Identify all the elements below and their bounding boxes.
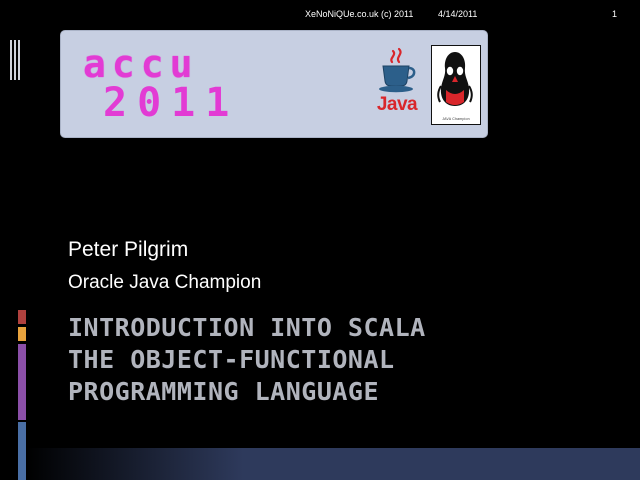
accu-wordmark: accu — [83, 43, 199, 85]
java-champion-caption: JAVA Champion — [432, 117, 480, 121]
java-champion-badge: JAVA Champion — [431, 45, 481, 125]
strip-block-violet — [18, 344, 26, 420]
accu-year-wordmark: 2011 — [103, 81, 239, 125]
duke-mascot-icon — [432, 46, 480, 124]
author-role: Oracle Java Champion — [68, 272, 261, 294]
strip-bars-icon — [10, 40, 22, 80]
header-logo-panel: accu 2011 Java — [61, 31, 487, 137]
slide-footer — [26, 448, 640, 480]
footer-date: 4/14/2011 — [438, 9, 477, 19]
java-coffee-cup-icon — [371, 47, 423, 93]
footer-gradient — [26, 448, 316, 480]
java-logo-text: Java — [371, 94, 423, 116]
strip-block-blue — [18, 422, 26, 480]
strip-block-red — [18, 310, 26, 324]
title-line-3: PROGRAMMING LANGUAGE — [68, 376, 608, 408]
title-line-1: INTRODUCTION INTO SCALA — [68, 312, 608, 344]
java-logo: Java — [371, 47, 423, 123]
title-line-2: THE OBJECT-FUNCTIONAL — [68, 344, 608, 376]
strip-block-amber — [18, 327, 26, 341]
slide-canvas: accu 2011 Java — [0, 0, 640, 480]
footer-page-number: 1 — [612, 9, 617, 19]
slide-title: INTRODUCTION INTO SCALA THE OBJECT-FUNCT… — [68, 312, 608, 408]
author-name: Peter Pilgrim — [68, 238, 188, 262]
footer-credit: XeNoNiQUe.co.uk (c) 2011 — [305, 9, 413, 19]
